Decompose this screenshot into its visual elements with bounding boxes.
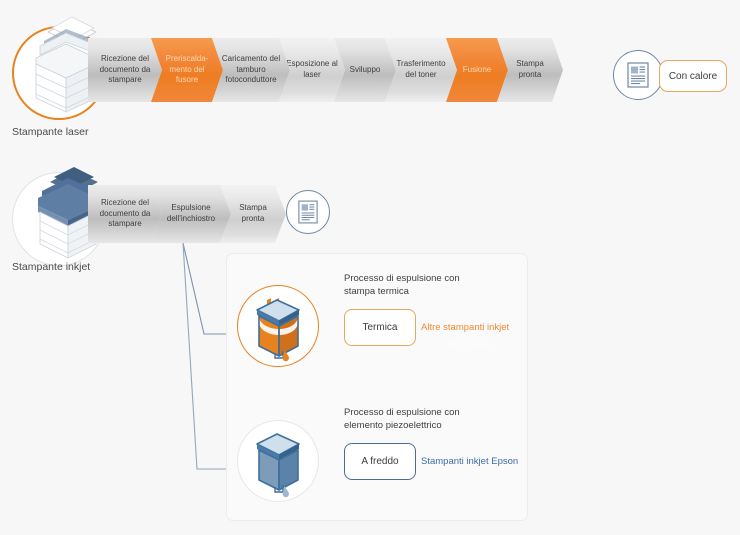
- flow-step-label: Esposizione al laser: [286, 59, 338, 80]
- piezo-note: Stampanti inkjet Epson: [421, 456, 518, 467]
- blue-ink-cartridge-icon: [253, 432, 305, 494]
- thermal-mode-button[interactable]: Termica: [344, 309, 416, 346]
- document-icon: [627, 62, 649, 88]
- flow-step-label: Sviluppo: [350, 65, 381, 76]
- flow-step-label: Fusione: [463, 65, 491, 76]
- inkjet-process-flow: Ricezione del documento da stampare Espu…: [88, 185, 275, 243]
- inkjet-printer-label: Stampante inkjet: [12, 261, 90, 273]
- flow-step-label: Trasferimento del toner: [392, 59, 450, 80]
- inkjet-result-doc-circle: [286, 190, 330, 234]
- thermal-mode-label: Termica: [362, 322, 397, 333]
- flow-step-label: Ricezione del documento da stampare: [95, 198, 155, 230]
- flow-step-label: Stampa pronta: [227, 203, 279, 224]
- laser-result-doc-circle: [613, 50, 663, 100]
- flow-step-label: Preriscalda- mento del fusore: [158, 54, 216, 86]
- con-calore-pill[interactable]: Con calore: [659, 60, 727, 92]
- flow-step-label: Stampa pronta: [504, 59, 556, 80]
- flow-step-label: Caricamento del tamburo fotoconduttore: [219, 54, 283, 86]
- laser-process-flow: Ricezione del documento da stampare Prer…: [88, 38, 552, 102]
- piezo-process-title: Processo di espulsione con elemento piez…: [344, 406, 514, 432]
- thermal-note-sub: HP, Canon: [447, 340, 490, 350]
- orange-ink-cartridge-icon: [253, 296, 305, 360]
- flow-step-label: Ricezione del documento da stampare: [95, 54, 155, 86]
- thermal-note: Altre stampanti inkjet: [421, 322, 509, 333]
- piezo-mode-button[interactable]: A freddo: [344, 443, 416, 480]
- flow-step-inkjet-1[interactable]: Espulsione dell'inchiostro: [151, 185, 231, 243]
- con-calore-label: Con calore: [669, 71, 717, 82]
- document-icon: [298, 200, 318, 224]
- flow-step-inkjet-0[interactable]: Ricezione del documento da stampare: [88, 185, 162, 243]
- thermal-process-title: Processo di espulsione con stampa termic…: [344, 272, 514, 298]
- piezo-mode-label: A freddo: [361, 456, 398, 467]
- flow-step-laser-0[interactable]: Ricezione del documento da stampare: [88, 38, 162, 102]
- flow-step-label: Espulsione dell'inchiostro: [158, 203, 224, 224]
- laser-printer-label: Stampante laser: [12, 126, 88, 138]
- infographic-canvas: Stampante laser Ricezione del documento …: [0, 0, 740, 535]
- flow-step-laser-2[interactable]: Caricamento del tamburo fotoconduttore: [212, 38, 290, 102]
